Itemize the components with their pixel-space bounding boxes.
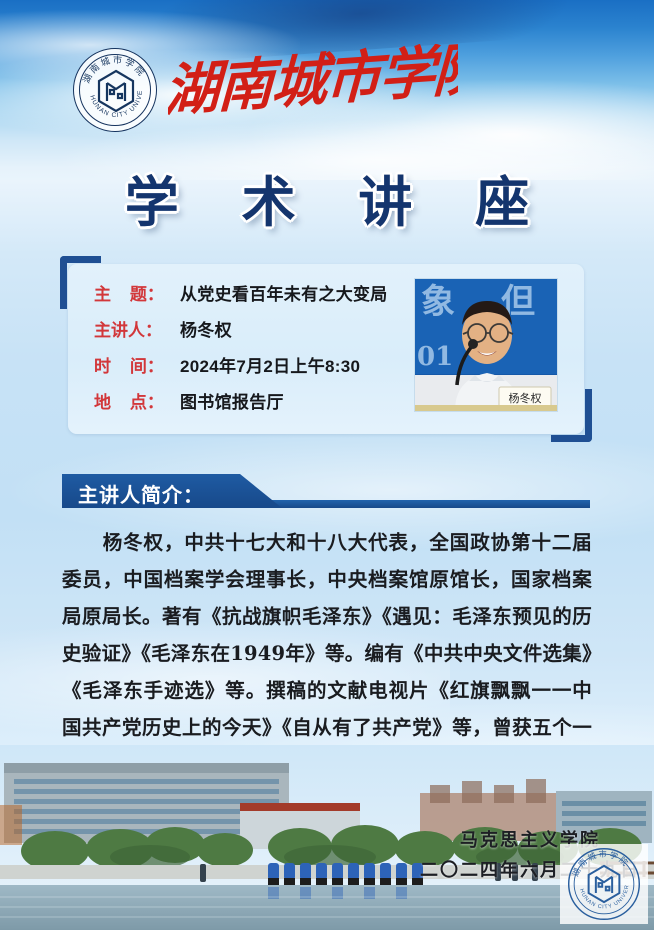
info-row-topic: 主 题： 从党史看百年未有之大变局 bbox=[94, 280, 434, 316]
info-label-time: 时 间： bbox=[94, 352, 180, 377]
lecture-poster: 湖 南 城 市 学 院 HUNAN CITY UNIVERSITY 湖南城市学院… bbox=[0, 0, 654, 930]
info-label-speaker: 主讲人： bbox=[94, 316, 180, 341]
watermark-logo: 湖 南 城 市 学 院 HUNAN CITY UNIVERSITY bbox=[560, 844, 648, 924]
seal-emblem-icon: 湖 南 城 市 学 院 HUNAN CITY UNIVERSITY bbox=[74, 49, 158, 133]
speaker-nameplate-text: 杨冬权 bbox=[509, 391, 542, 405]
info-row-location: 地 点： 图书馆报告厅 bbox=[94, 388, 434, 424]
lecture-info-panel: 主 题： 从党史看百年未有之大变局 主讲人： 杨冬权 时 间： 2024年7月2… bbox=[60, 256, 592, 442]
svg-text:01: 01 bbox=[417, 342, 453, 372]
watermark-seal-icon: 湖 南 城 市 学 院 HUNAN CITY UNIVERSITY bbox=[566, 846, 642, 922]
svg-text:象: 象 bbox=[421, 282, 455, 322]
university-name-calligraphy: 湖南城市学院 bbox=[168, 44, 458, 136]
info-value-topic: 从党史看百年未有之大变局 bbox=[180, 280, 388, 305]
info-row-time: 时 间： 2024年7月2日上午8:30 bbox=[94, 352, 434, 388]
speaker-bio-text: 杨冬权，中共十七大和十八大代表，全国政协第十二届委员，中国档案学会理事长，中央档… bbox=[62, 531, 592, 776]
poster-main-title: 学 术 讲 座 bbox=[0, 158, 654, 237]
info-rows: 主 题： 从党史看百年未有之大变局 主讲人： 杨冬权 时 间： 2024年7月2… bbox=[94, 280, 434, 424]
university-name-text: 湖南城市学院 bbox=[168, 44, 458, 125]
banner-label: 主讲人简介： bbox=[78, 479, 204, 508]
university-seal-logo: 湖 南 城 市 学 院 HUNAN CITY UNIVERSITY bbox=[73, 48, 157, 132]
info-value-time: 2024年7月2日上午8:30 bbox=[180, 352, 360, 377]
info-label-topic: 主 题： bbox=[94, 280, 180, 305]
svg-text:湖 南 城 市 学 院: 湖 南 城 市 学 院 bbox=[81, 54, 147, 85]
banner-underline-bar bbox=[258, 500, 590, 508]
info-label-location: 地 点： bbox=[94, 388, 180, 413]
info-value-location: 图书馆报告厅 bbox=[180, 388, 284, 413]
main-title-text: 学 术 讲 座 bbox=[103, 158, 551, 237]
speaker-bio-banner: 主讲人简介： bbox=[62, 474, 590, 510]
speaker-photo: 象但 01 杨冬权 bbox=[414, 278, 558, 412]
info-row-speaker: 主讲人： 杨冬权 bbox=[94, 316, 434, 352]
info-value-speaker: 杨冬权 bbox=[180, 316, 232, 341]
